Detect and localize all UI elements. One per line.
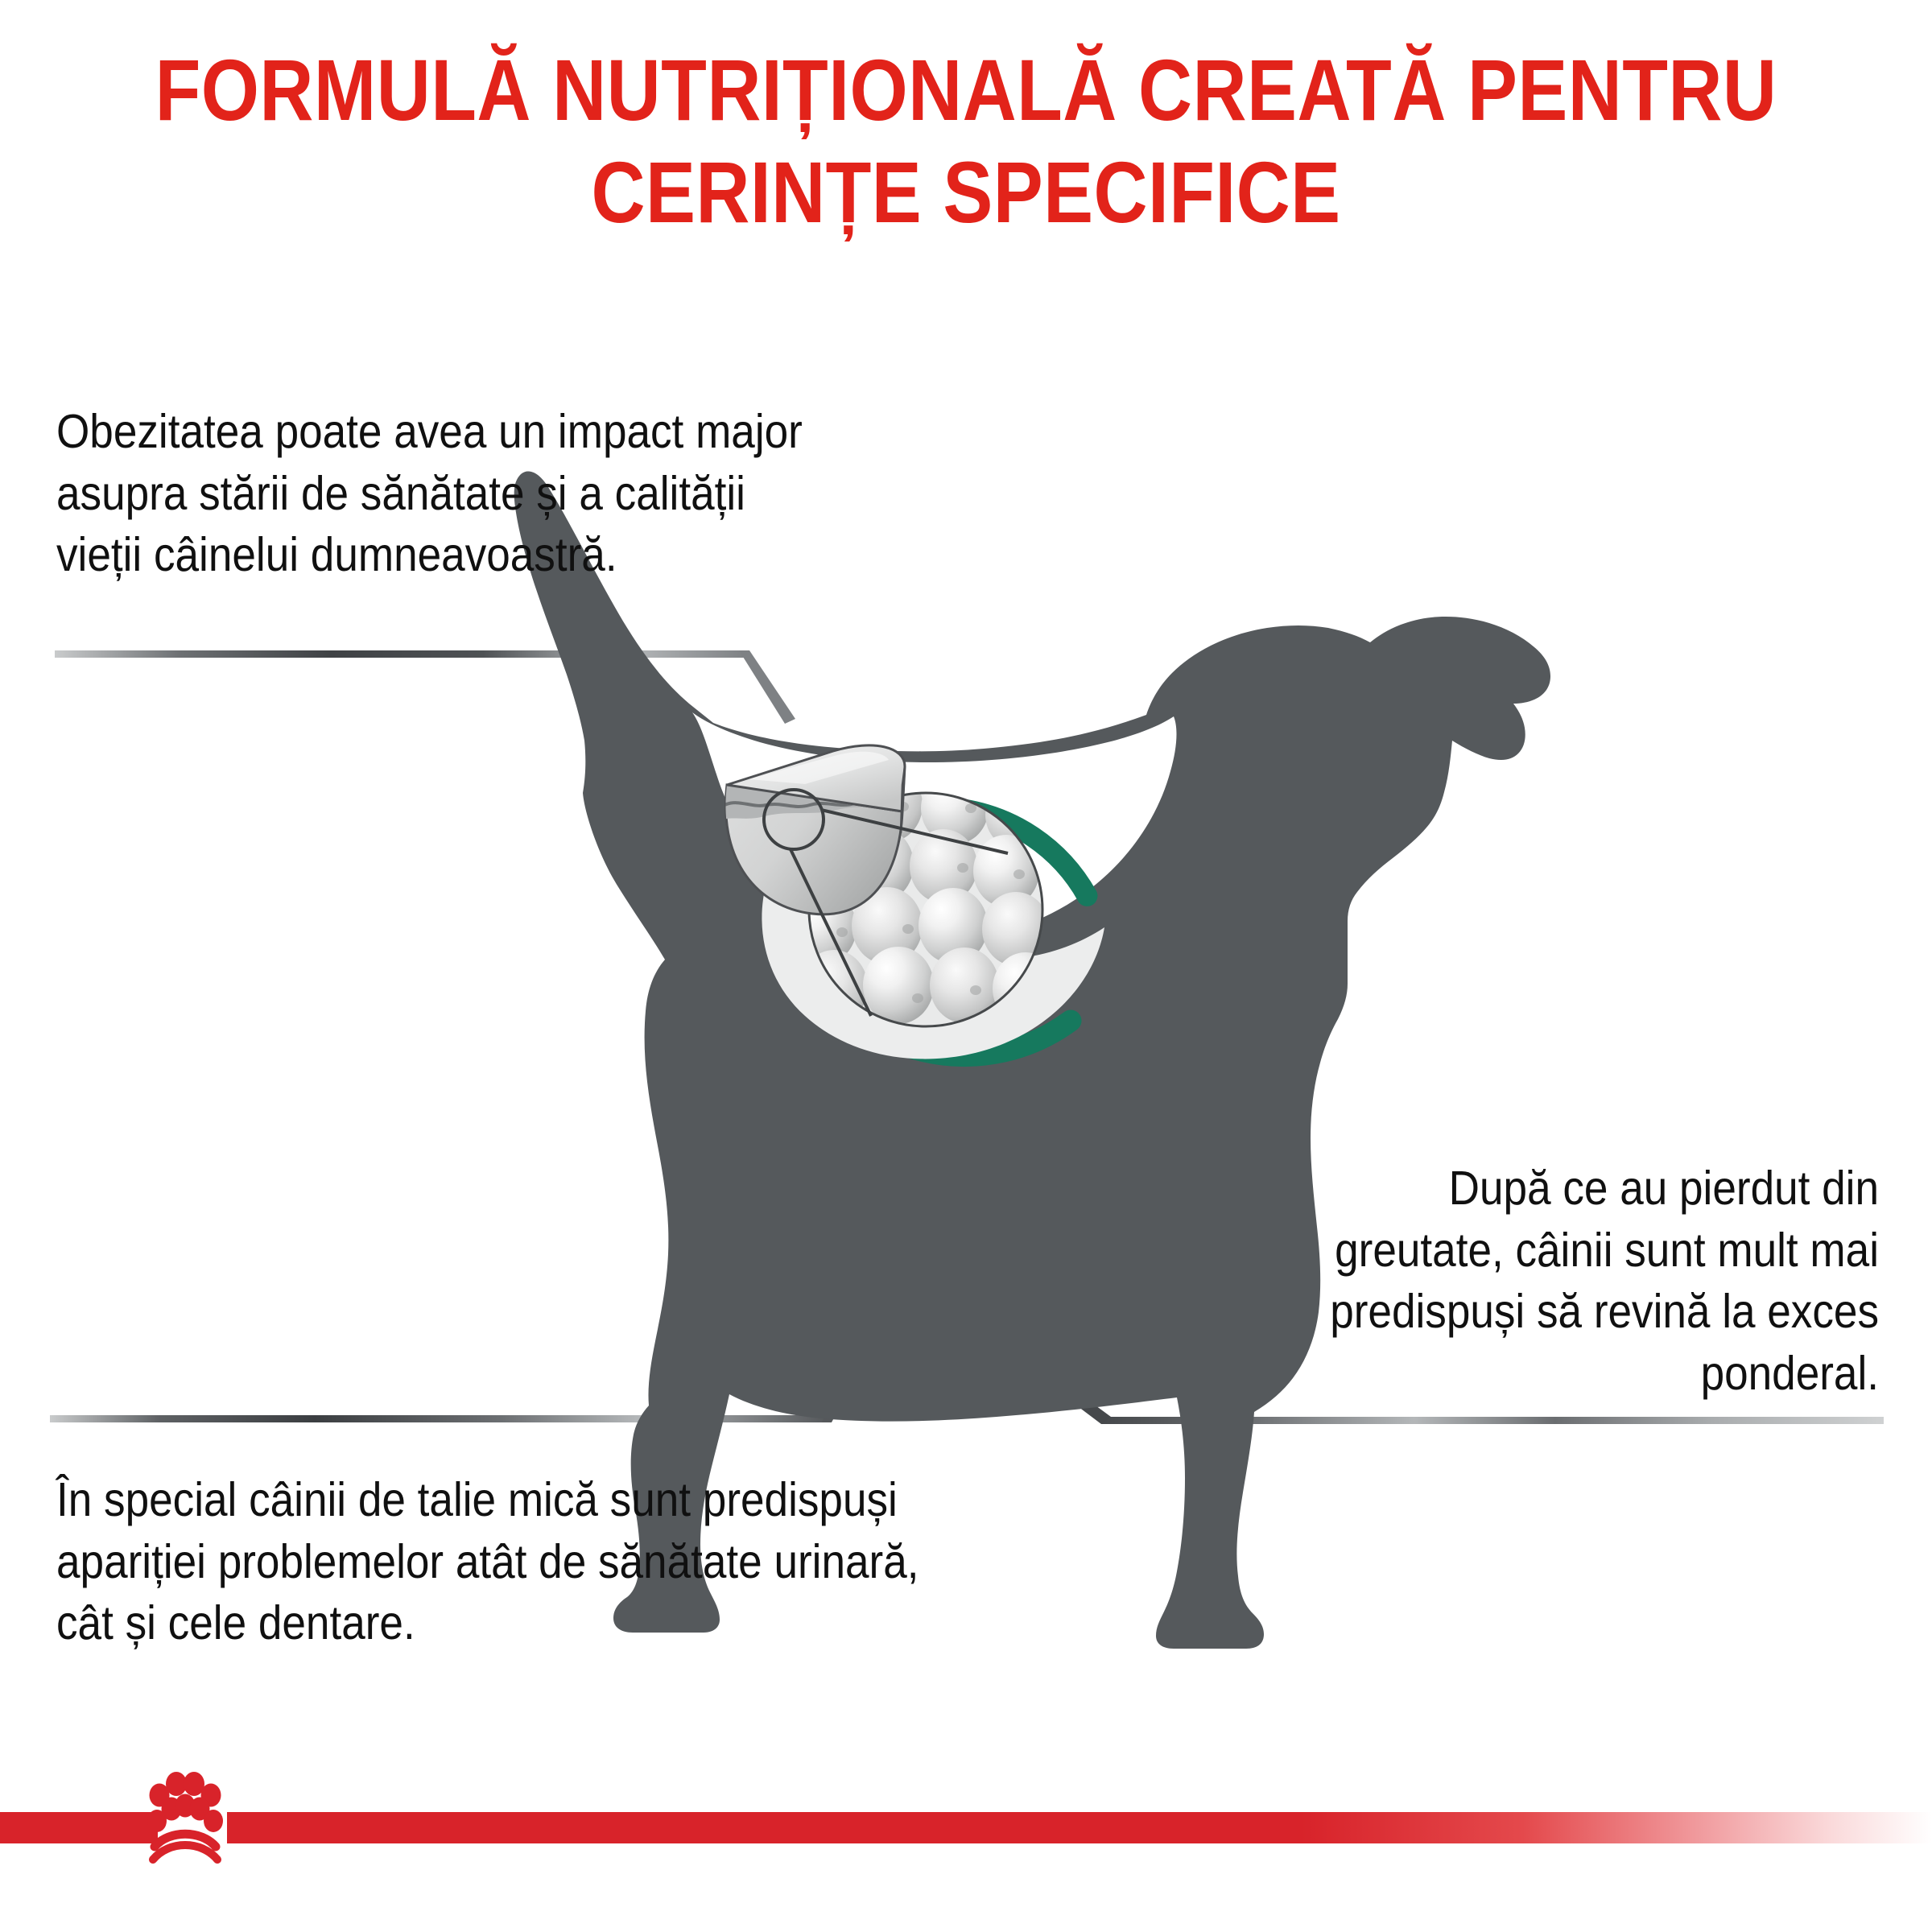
callout-text-right: După ce au pierdut din greutate, câinii … [1270,1158,1879,1405]
callout-text-bottom-left: În special câinii de talie mică sunt pre… [56,1469,947,1654]
royal-canin-crown-logo [135,1769,235,1882]
footer-bar-right [227,1812,1932,1843]
footer-bar-left [0,1812,158,1843]
callout-text-top-left: Obezitatea poate avea un impact major as… [56,401,824,586]
